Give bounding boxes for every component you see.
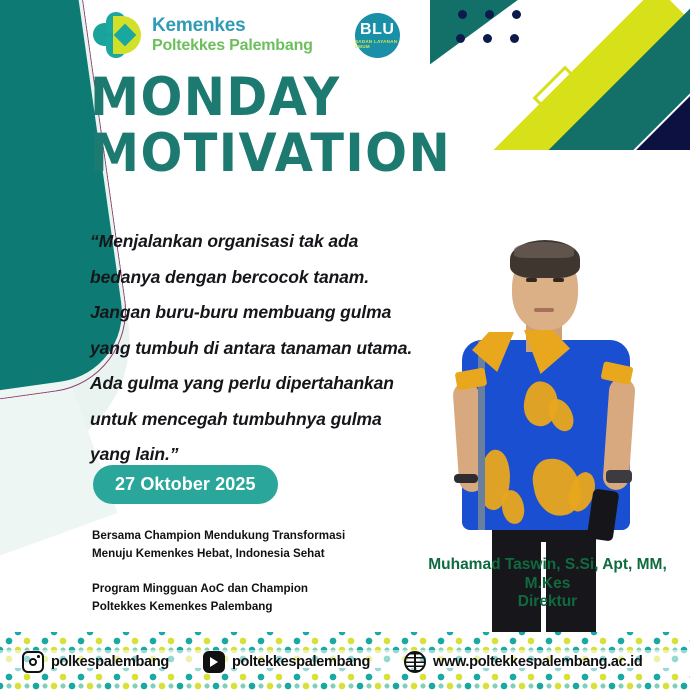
quote-line: bedanya dengan bercocok tanam.	[90, 260, 450, 296]
footer-bar: polkespalembang poltekkespalembang www.p…	[0, 632, 690, 690]
eye-left	[526, 278, 537, 282]
globe-icon[interactable]	[404, 651, 426, 673]
instagram-handle[interactable]: polkespalembang	[51, 654, 169, 670]
top-right-decoration	[430, 0, 690, 150]
title-line-2: MOTIVATION	[90, 128, 451, 180]
social-website[interactable]: www.poltekkespalembang.ac.id	[404, 651, 642, 673]
page-title: MONDAY MOTIVATION	[90, 72, 451, 181]
mouth	[534, 308, 554, 312]
kemenkes-logo: Kemenkes Poltekkes Palembang	[93, 12, 313, 58]
quote-line: Jangan buru-buru membuang gulma	[90, 295, 450, 331]
brand-ministry-line1: Kemenkes	[152, 15, 313, 36]
date-badge: 27 Oktober 2025	[93, 465, 278, 504]
tagline-line-1: Bersama Champion Mendukung Transformasi	[92, 527, 387, 545]
hair-highlight	[514, 242, 574, 258]
dot	[512, 10, 521, 19]
quote-line: yang tumbuh di antara tanaman utama.	[90, 331, 450, 367]
quote-line: untuk mencegah tumbuhnya gulma	[90, 402, 450, 438]
blu-label: BLU	[360, 22, 394, 38]
batik-motif	[545, 395, 577, 434]
tagline-line-2: Menuju Kemenkes Hebat, Indonesia Sehat	[92, 545, 387, 563]
program-line-2: Poltekkes Kemenkes Palembang	[92, 598, 387, 616]
youtube-handle[interactable]: poltekkespalembang	[232, 654, 370, 670]
person-name: Muhamad Taswin, S.Si, Apt, MM, M.Kes	[405, 556, 690, 593]
title-line-1: MONDAY	[90, 72, 451, 124]
person-role: Direktur	[405, 593, 690, 612]
program-line-1: Program Mingguan AoC dan Champion	[92, 580, 387, 598]
dot	[483, 34, 492, 43]
dot	[456, 34, 465, 43]
poster-canvas: Kemenkes Poltekkes Palembang BLU BADAN L…	[0, 0, 690, 690]
eye-right	[553, 278, 564, 282]
website-url[interactable]: www.poltekkespalembang.ac.id	[433, 654, 642, 670]
person-name-banner: Muhamad Taswin, S.Si, Apt, MM, M.Kes Dir…	[405, 556, 690, 612]
instagram-icon[interactable]	[22, 651, 44, 673]
kemenkes-logo-text: Kemenkes Poltekkes Palembang	[152, 15, 313, 54]
quote-line: “Menjalankan organisasi tak ada	[90, 224, 450, 260]
header-logos: Kemenkes Poltekkes Palembang BLU BADAN L…	[93, 12, 400, 58]
brand-ministry-line2: Poltekkes Palembang	[152, 37, 313, 55]
dot	[510, 34, 519, 43]
bracelet	[454, 474, 478, 483]
quote-line: Ada gulma yang perlu dipertahankan	[90, 366, 450, 402]
tagline-block: Bersama Champion Mendukung Transformasi …	[92, 527, 387, 563]
phone-in-hand	[587, 488, 620, 541]
wristwatch	[606, 470, 632, 483]
blu-logo: BLU BADAN LAYANAN UMUM	[355, 13, 400, 58]
navy-dot-grid	[458, 10, 521, 58]
dot	[485, 10, 494, 19]
youtube-icon[interactable]	[203, 651, 225, 673]
social-youtube[interactable]: poltekkespalembang	[203, 651, 370, 673]
batik-motif	[501, 489, 526, 525]
kemenkes-flower-icon	[93, 12, 141, 58]
program-block: Program Mingguan AoC dan Champion Poltek…	[92, 580, 387, 616]
blu-sublabel: BADAN LAYANAN UMUM	[355, 39, 400, 49]
social-links: polkespalembang poltekkespalembang www.p…	[0, 648, 690, 676]
dot	[458, 10, 467, 19]
social-instagram[interactable]: polkespalembang	[22, 651, 169, 673]
quote-block: “Menjalankan organisasi tak ada bedanya …	[90, 224, 450, 473]
